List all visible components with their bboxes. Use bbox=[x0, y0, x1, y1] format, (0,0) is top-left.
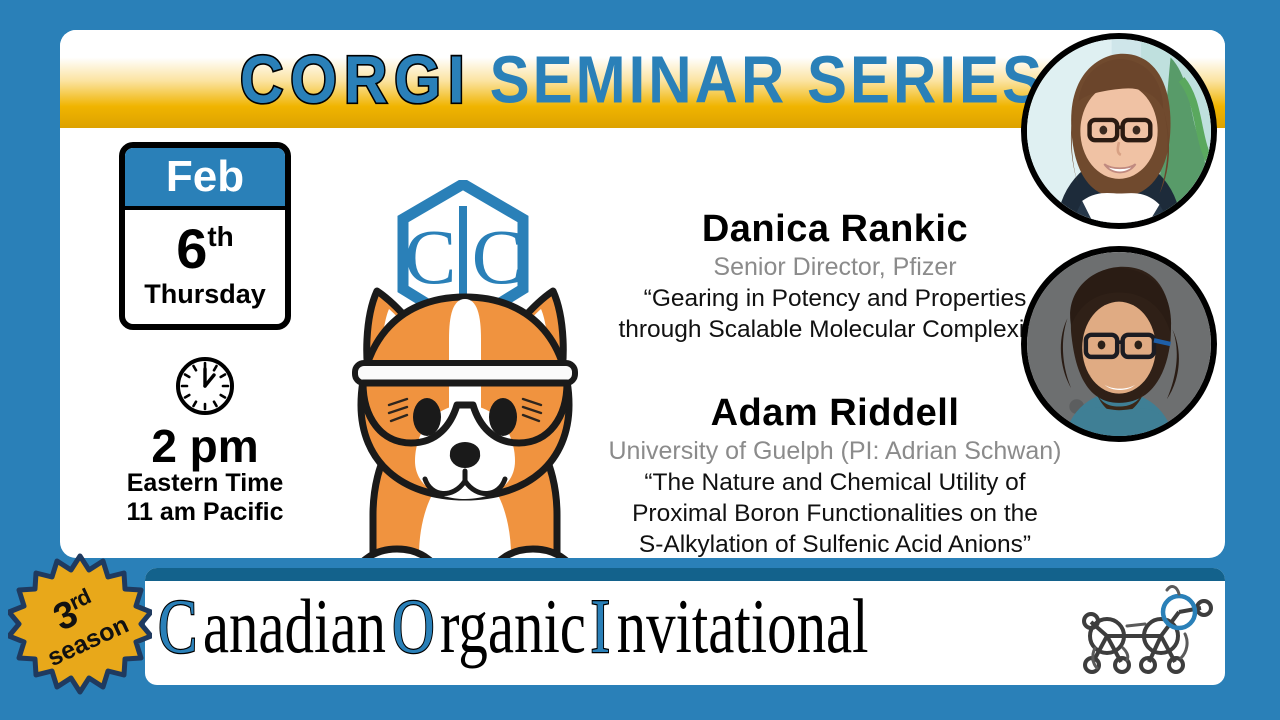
footer-title-part: rganic bbox=[440, 588, 586, 666]
clock-icon bbox=[173, 354, 237, 418]
speaker-talk-line: “The Nature and Chemical Utility of bbox=[580, 468, 1090, 497]
calendar-day-row: 6 th bbox=[176, 221, 234, 277]
speaker-affiliation: University of Guelph (PI: Adrian Schwan) bbox=[580, 436, 1090, 466]
calendar-month: Feb bbox=[125, 148, 285, 210]
footer-title-part: nvitational bbox=[617, 588, 869, 666]
speaker-affiliation: Senior Director, Pfizer bbox=[580, 252, 1090, 282]
calendar-icon: Feb 6 th Thursday bbox=[119, 142, 291, 330]
event-time: 2 pm bbox=[151, 422, 258, 470]
footer-bar: Canadian Organic Invitational bbox=[145, 568, 1225, 685]
starburst-icon bbox=[8, 552, 152, 696]
speaker-talk-line: S-Alkylation of Sulfenic Acid Anions” bbox=[580, 530, 1090, 558]
dog-molecule-icon bbox=[1061, 578, 1221, 678]
footer-title-part: C bbox=[158, 588, 197, 666]
main-poster-card: CORGI SEMINAR SERIES Feb 6 th Thursday bbox=[60, 30, 1225, 558]
event-details-column: Feb 6 th Thursday bbox=[100, 142, 310, 527]
calendar-day-suffix: th bbox=[207, 223, 233, 251]
speaker-name: Adam Riddell bbox=[580, 392, 1090, 435]
footer-title-part: anadian bbox=[203, 588, 386, 666]
footer-title-part: I bbox=[590, 588, 610, 666]
speaker-talk-line: Proximal Boron Functionalities on the bbox=[580, 499, 1090, 528]
footer-title-part: O bbox=[392, 588, 435, 666]
mascot-area: C C bbox=[315, 180, 615, 558]
speaker-talk-line: “Gearing in Potency and Properties bbox=[580, 284, 1090, 313]
calendar-body: 6 th Thursday bbox=[125, 210, 285, 324]
speaker-name: Danica Rankic bbox=[580, 208, 1090, 251]
title-word-corgi: CORGI bbox=[240, 40, 472, 117]
calendar-day: 6 bbox=[176, 221, 207, 277]
speaker-block-1: Danica Rankic Senior Director, Pfizer “G… bbox=[580, 208, 1090, 344]
event-timezone-eastern: Eastern Time bbox=[127, 470, 284, 498]
calendar-weekday: Thursday bbox=[144, 279, 266, 310]
event-timezone-pacific: 11 am Pacific bbox=[126, 498, 283, 527]
corgi-mascot-icon bbox=[315, 265, 615, 558]
speaker-photo-2 bbox=[1021, 246, 1217, 442]
speaker-photo-1 bbox=[1021, 33, 1217, 229]
season-badge: 3rd season bbox=[8, 552, 152, 696]
speaker-block-2: Adam Riddell University of Guelph (PI: A… bbox=[580, 392, 1090, 558]
title-word-seminar-series: SEMINAR SERIES bbox=[490, 40, 1045, 117]
speaker-talk-line: through Scalable Molecular Complexity” bbox=[580, 315, 1090, 344]
